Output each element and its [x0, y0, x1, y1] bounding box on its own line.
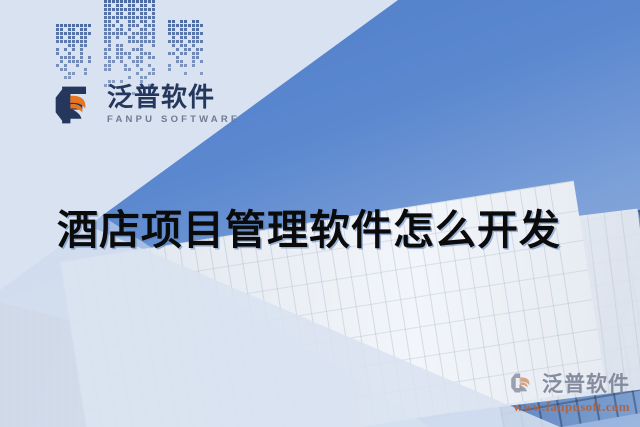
hero-banner: 泛普软件 FANPU SOFTWARE 酒店项目管理软件怎么开发 泛普软件 ww…	[0, 0, 640, 427]
watermark-url: www.fanpusoft.com	[509, 399, 630, 415]
fanpu-hexagon-swoosh-icon	[509, 369, 537, 397]
brand-logo-text: 泛普软件 FANPU SOFTWARE	[107, 85, 240, 125]
pixel-skyline-icon	[56, 0, 246, 92]
brand-name-en: FANPU SOFTWARE	[107, 114, 240, 125]
watermark-brand-cn: 泛普软件	[542, 368, 630, 398]
watermark-logo-row: 泛普软件	[509, 368, 630, 398]
fanpu-hexagon-swoosh-icon	[52, 82, 98, 128]
watermark: 泛普软件 www.fanpusoft.com	[509, 368, 630, 415]
page-title: 酒店项目管理软件怎么开发	[57, 196, 561, 256]
brand-logo: 泛普软件 FANPU SOFTWARE	[52, 82, 240, 128]
brand-name-cn: 泛普软件	[107, 85, 240, 112]
